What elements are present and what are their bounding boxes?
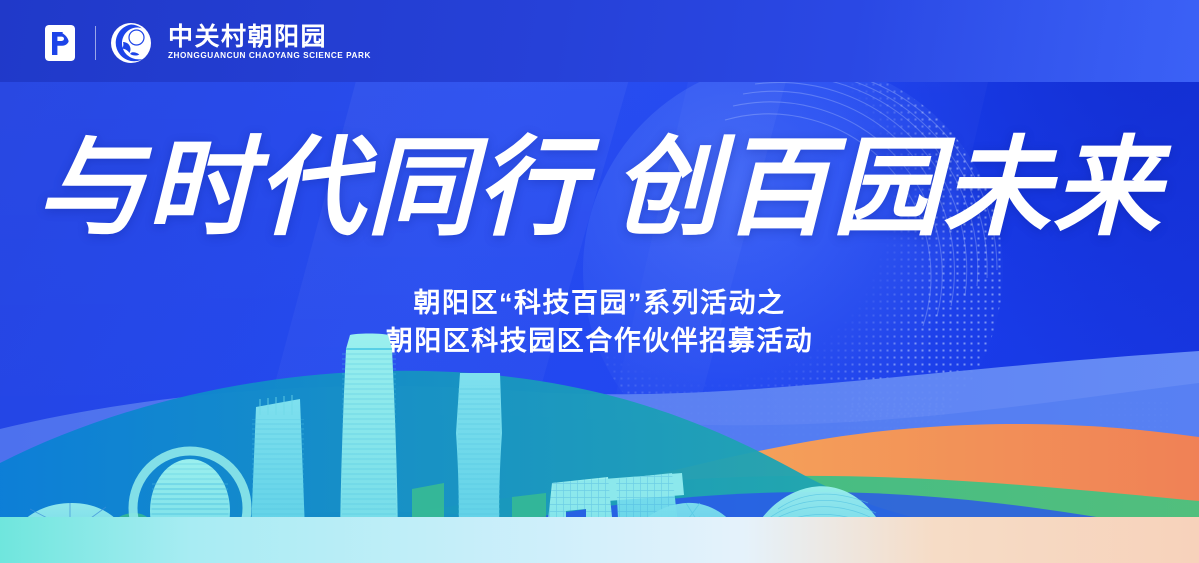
logo-divider-icon xyxy=(95,26,96,60)
logo-name-cn: 中关村朝阳园 xyxy=(168,25,371,50)
brand-logo[interactable]: 中关村朝阳园 ZHONGGUANCUN CHAOYANG SCIENCE PAR… xyxy=(38,18,371,68)
subtitle-line-1: 朝阳区“科技百园”系列活动之 xyxy=(0,284,1199,322)
ground-strip xyxy=(0,517,1199,563)
skyline-scene xyxy=(0,333,1199,563)
page-title: 与时代同行创百园未来 xyxy=(0,136,1199,244)
headline-part-1: 与时代同行 xyxy=(36,130,586,249)
headline-part-2: 创百园未来 xyxy=(613,130,1163,249)
chaoyang-c-emblem-icon xyxy=(109,21,153,65)
promotional-banner: 中关村朝阳园 ZHONGGUANCUN CHAOYANG SCIENCE PAR… xyxy=(0,0,1199,563)
zhongguancun-p-emblem-icon xyxy=(38,20,82,66)
logo-text-block: 中关村朝阳园 ZHONGGUANCUN CHAOYANG SCIENCE PAR… xyxy=(166,25,371,60)
logo-name-en: ZHONGGUANCUN CHAOYANG SCIENCE PARK xyxy=(168,52,371,60)
